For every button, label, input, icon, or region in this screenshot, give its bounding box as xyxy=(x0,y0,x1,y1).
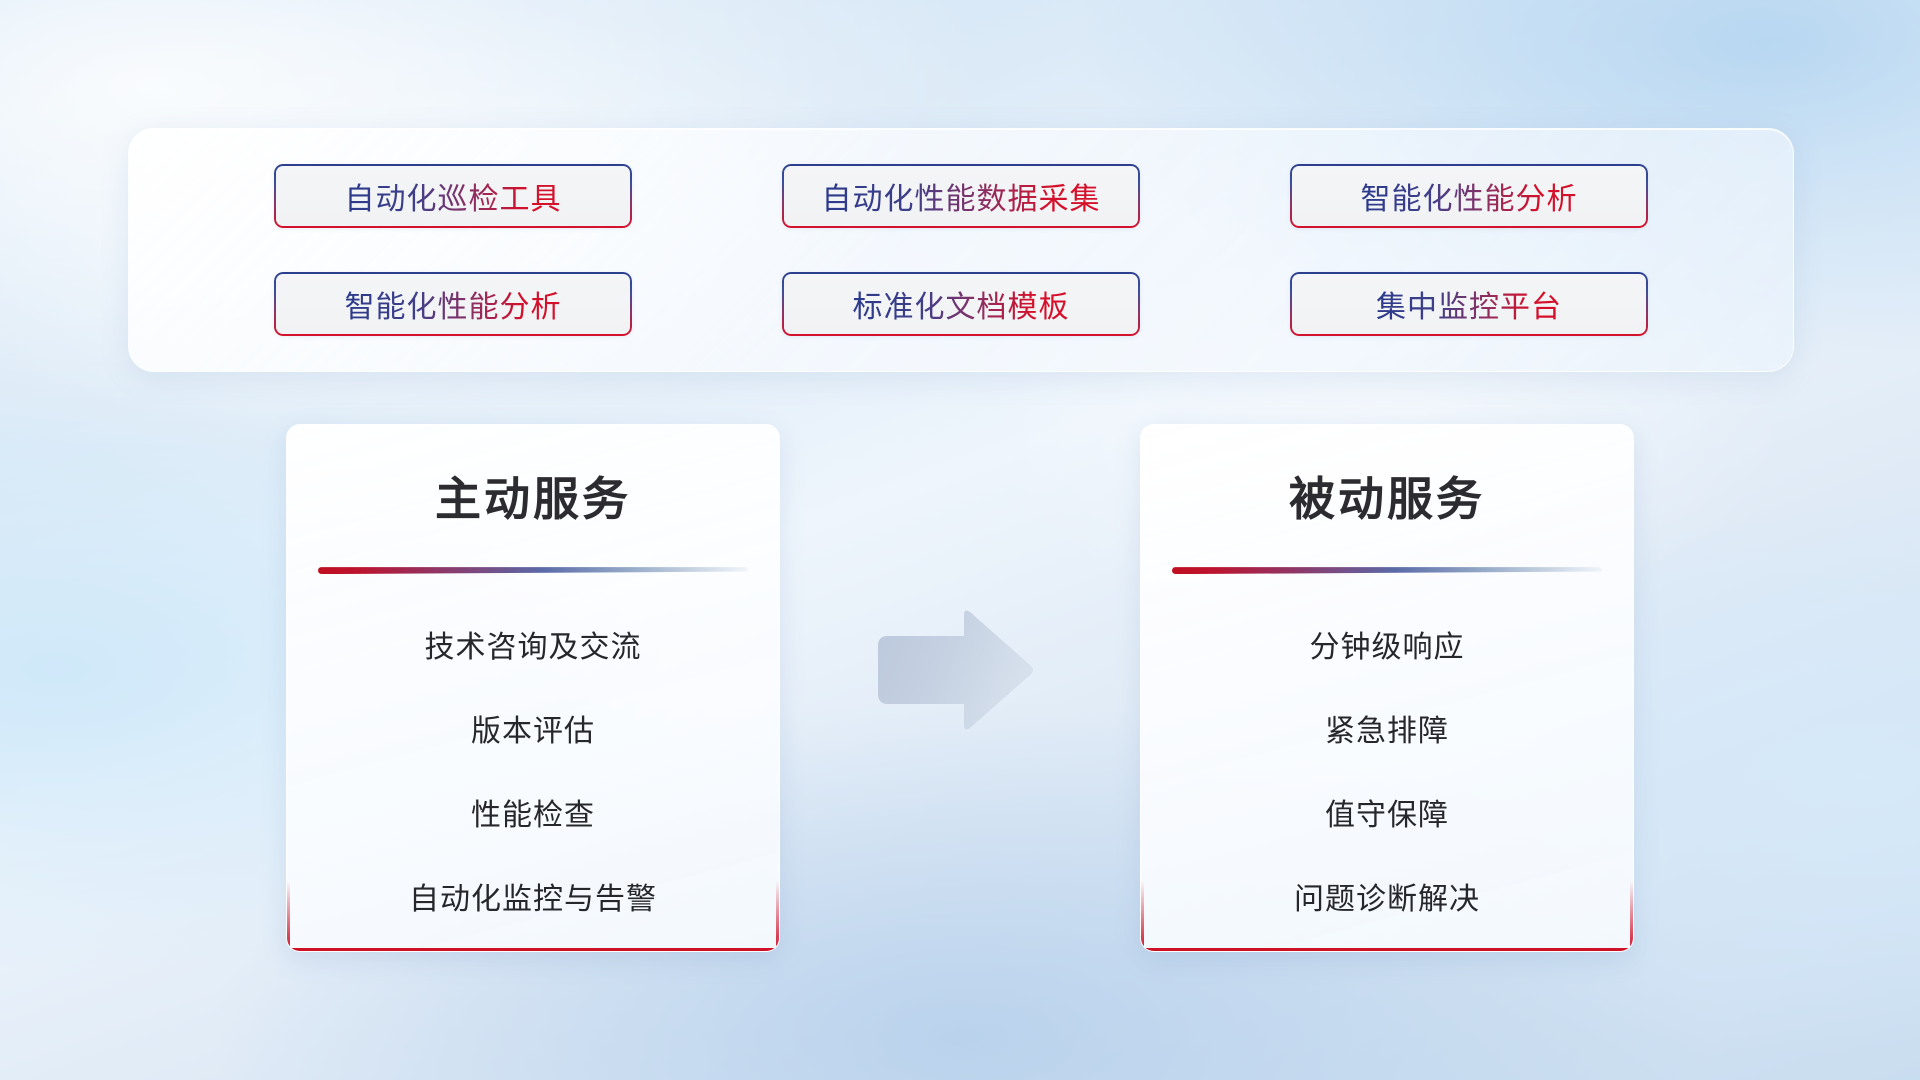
list-item: 版本评估 xyxy=(287,686,779,770)
list-item: 性能检查 xyxy=(287,770,779,854)
card-accent-edge xyxy=(1630,881,1633,951)
card-title: 主动服务 xyxy=(287,463,779,529)
capability-tag[interactable]: 标准化文档模板 xyxy=(782,272,1140,336)
card-divider xyxy=(318,567,748,574)
service-card-active: 主动服务 技术咨询及交流 版本评估 性能检查 自动化监控与告警 健康巡检 xyxy=(286,424,780,952)
arrow-right-icon xyxy=(872,610,1034,732)
capability-tag-label: 智能化性能分析 xyxy=(1361,174,1578,218)
list-item: 问题诊断解决 xyxy=(1141,854,1633,938)
card-divider xyxy=(1172,567,1602,574)
list-item: 自动化监控与告警 xyxy=(287,854,779,938)
capability-tag-label: 智能化性能分析 xyxy=(345,282,562,326)
capability-tag[interactable]: 集中监控平台 xyxy=(1290,272,1648,336)
capability-tag-grid: 自动化巡检工具 自动化性能数据采集 智能化性能分析 智能化性能分析 标准化文档模… xyxy=(129,129,1793,371)
capability-tag[interactable]: 自动化巡检工具 xyxy=(274,164,632,228)
capability-tag-label: 自动化性能数据采集 xyxy=(822,174,1101,218)
capability-tag[interactable]: 自动化性能数据采集 xyxy=(782,164,1140,228)
capability-tag-label: 自动化巡检工具 xyxy=(345,174,562,218)
card-accent-edge xyxy=(776,881,779,951)
service-item-list: 技术咨询及交流 版本评估 性能检查 自动化监控与告警 健康巡检 xyxy=(287,602,779,952)
capability-tag[interactable]: 智能化性能分析 xyxy=(274,272,632,336)
list-item: 健康巡检 xyxy=(287,938,779,952)
list-item: 技术咨询及交流 xyxy=(287,602,779,686)
service-item-list: 分钟级响应 紧急排障 值守保障 问题诊断解决 SLA式服务 xyxy=(1141,602,1633,952)
card-title: 被动服务 xyxy=(1141,463,1633,529)
capability-tag-label: 集中监控平台 xyxy=(1376,282,1562,326)
service-card-passive: 被动服务 分钟级响应 紧急排障 值守保障 问题诊断解决 SLA式服务 xyxy=(1140,424,1634,952)
capability-tag[interactable]: 智能化性能分析 xyxy=(1290,164,1648,228)
list-item: 分钟级响应 xyxy=(1141,602,1633,686)
list-item: SLA式服务 xyxy=(1141,938,1633,952)
capability-panel: 自动化巡检工具 自动化性能数据采集 智能化性能分析 智能化性能分析 标准化文档模… xyxy=(128,128,1794,372)
list-item: 紧急排障 xyxy=(1141,686,1633,770)
capability-tag-label: 标准化文档模板 xyxy=(853,282,1070,326)
list-item: 值守保障 xyxy=(1141,770,1633,854)
